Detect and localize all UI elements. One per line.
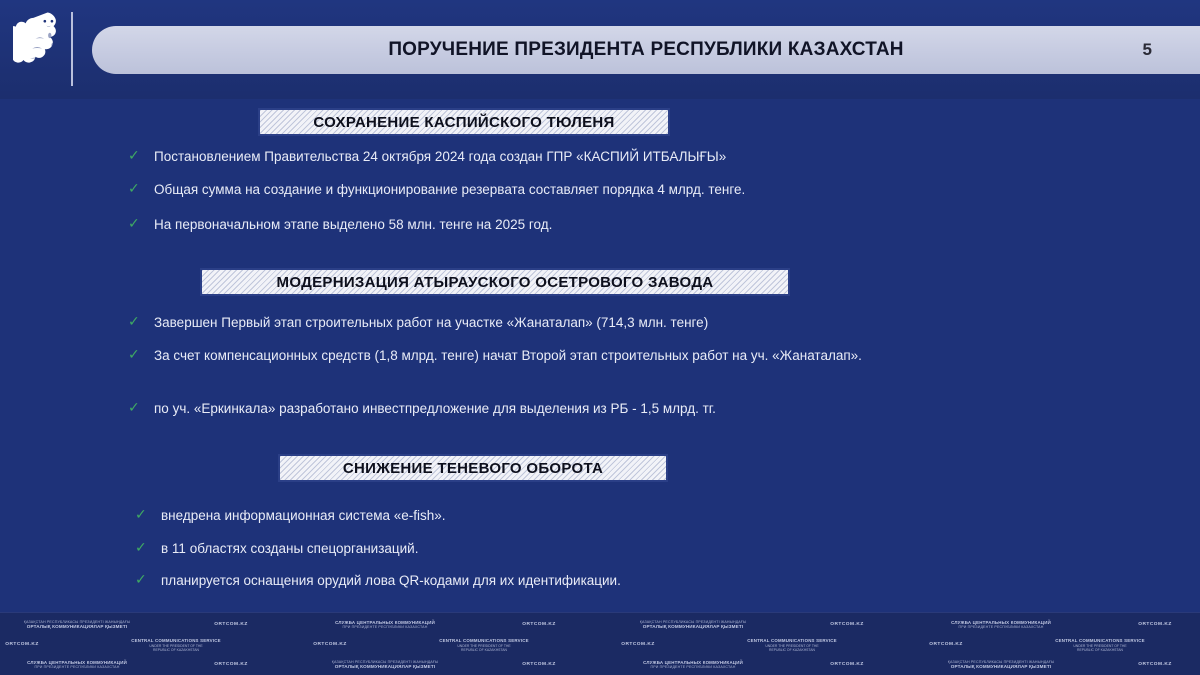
- list-item: ✓ Завершен Первый этап строительных рабо…: [128, 313, 918, 332]
- header-divider: [71, 12, 73, 86]
- title-bar: ПОРУЧЕНИЕ ПРЕЗИДЕНТА РЕСПУБЛИКИ КАЗАХСТА…: [92, 26, 1200, 74]
- list-item-text: планируется оснащения орудий лова QR-код…: [161, 571, 621, 590]
- snow-leopard-emblem: [12, 6, 70, 90]
- footer-cell: ORTCOM.KZ: [253, 642, 407, 648]
- footer-cell: СЛУЖБА ЦЕНТРАЛЬНЫХ КОММУНИКАЦИЙПРИ ПРЕЗИ…: [924, 620, 1078, 629]
- footer-cell: СЛУЖБА ЦЕНТРАЛЬНЫХ КОММУНИКАЦИЙПРИ ПРЕЗИ…: [616, 660, 770, 669]
- check-icon: ✓: [135, 571, 151, 589]
- list-item-text: Постановлением Правительства 24 октября …: [154, 147, 726, 166]
- section-heading-label: СОХРАНЕНИЕ КАСПИЙСКОГО ТЮЛЕНЯ: [313, 114, 614, 131]
- list-item: ✓ Общая сумма на создание и функциониров…: [128, 180, 888, 199]
- footer-cell: ORTCOM.KZ: [154, 622, 308, 628]
- list-item: ✓ в 11 областях созданы спецорганизаций.: [135, 539, 835, 558]
- check-icon: ✓: [135, 539, 151, 557]
- footer-cell: ҚАЗАҚСТАН РЕСПУБЛИКАСЫ ПРЕЗИДЕНТІ ЖАНЫНД…: [308, 660, 462, 670]
- footer-cell: CENTRAL COMMUNICATIONS SERVICEUNDER THE …: [715, 638, 869, 651]
- footer-cell: ORTCOM.KZ: [462, 662, 616, 668]
- list-item: ✓ Постановлением Правительства 24 октябр…: [128, 147, 888, 166]
- footer-cell: ORTCOM.KZ: [0, 642, 99, 648]
- footer-row: СЛУЖБА ЦЕНТРАЛЬНЫХ КОММУНИКАЦИЙПРИ ПРЕЗИ…: [0, 655, 1200, 675]
- footer-cell: ҚАЗАҚСТАН РЕСПУБЛИКАСЫ ПРЕЗИДЕНТІ ЖАНЫНД…: [616, 620, 770, 630]
- check-icon: ✓: [128, 346, 144, 364]
- footer-cell: ORTCOM.KZ: [770, 622, 924, 628]
- check-icon: ✓: [128, 313, 144, 331]
- footer-row: ORTCOM.KZCENTRAL COMMUNICATIONS SERVICEU…: [0, 635, 1200, 655]
- footer-cell: ORTCOM.KZ: [154, 662, 308, 668]
- section-heading-shadow-turnover: СНИЖЕНИЕ ТЕНЕВОГО ОБОРОТА: [278, 454, 668, 482]
- list-item: ✓ На первоначальном этапе выделено 58 мл…: [128, 215, 888, 234]
- list-item: ✓ За счет компенсационных средств (1,8 м…: [128, 346, 918, 365]
- footer-cell: CENTRAL COMMUNICATIONS SERVICEUNDER THE …: [99, 638, 253, 651]
- footer-cell: ORTCOM.KZ: [462, 622, 616, 628]
- list-item-text: За счет компенсационных средств (1,8 млр…: [154, 346, 862, 365]
- list-item: ✓ планируется оснащения орудий лова QR-к…: [135, 571, 835, 590]
- list-item-text: На первоначальном этапе выделено 58 млн.…: [154, 215, 552, 234]
- footer-cell: CENTRAL COMMUNICATIONS SERVICEUNDER THE …: [407, 638, 561, 651]
- footer-row: ҚАЗАҚСТАН РЕСПУБЛИКАСЫ ПРЕЗИДЕНТІ ЖАНЫНД…: [0, 615, 1200, 635]
- section-heading-label: СНИЖЕНИЕ ТЕНЕВОГО ОБОРОТА: [343, 460, 603, 477]
- check-icon: ✓: [135, 506, 151, 524]
- list-item: ✓ внедрена информационная система «e-fis…: [135, 506, 835, 525]
- footer-cell: ҚАЗАҚСТАН РЕСПУБЛИКАСЫ ПРЕЗИДЕНТІ ЖАНЫНД…: [0, 620, 154, 630]
- footer-cell: ORTCOM.KZ: [561, 642, 715, 648]
- check-icon: ✓: [128, 215, 144, 233]
- page-number: 5: [1143, 40, 1152, 60]
- footer-cell: CENTRAL COMMUNICATIONS SERVICEUNDER THE …: [1023, 638, 1177, 651]
- footer-watermark-band: ҚАЗАҚСТАН РЕСПУБЛИКАСЫ ПРЕЗИДЕНТІ ЖАНЫНД…: [0, 612, 1200, 675]
- list-item-text: по уч. «Еркинкала» разработано инвестпре…: [154, 399, 716, 418]
- footer-cell: ORTCOM.KZ: [1177, 642, 1200, 648]
- check-icon: ✓: [128, 180, 144, 198]
- check-icon: ✓: [128, 399, 144, 417]
- section-heading-label: МОДЕРНИЗАЦИЯ АТЫРАУСКОГО ОСЕТРОВОГО ЗАВО…: [277, 274, 714, 291]
- footer-cell: СЛУЖБА ЦЕНТРАЛЬНЫХ КОММУНИКАЦИЙПРИ ПРЕЗИ…: [0, 660, 154, 669]
- footer-cell: ORTCOM.KZ: [869, 642, 1023, 648]
- list-item-text: Завершен Первый этап строительных работ …: [154, 313, 708, 332]
- list-item-text: в 11 областях созданы спецорганизаций.: [161, 539, 418, 558]
- list-item-text: Общая сумма на создание и функционирован…: [154, 180, 745, 199]
- section-heading-caspian-seal: СОХРАНЕНИЕ КАСПИЙСКОГО ТЮЛЕНЯ: [258, 108, 670, 136]
- footer-cell: СЛУЖБА ЦЕНТРАЛЬНЫХ КОММУНИКАЦИЙПРИ ПРЕЗИ…: [308, 620, 462, 629]
- check-icon: ✓: [128, 147, 144, 165]
- footer-cell: ORTCOM.KZ: [1078, 622, 1200, 628]
- footer-cell: ҚАЗАҚСТАН РЕСПУБЛИКАСЫ ПРЕЗИДЕНТІ ЖАНЫНД…: [924, 660, 1078, 670]
- footer-cell: ORTCOM.KZ: [770, 662, 924, 668]
- slide-header: ПОРУЧЕНИЕ ПРЕЗИДЕНТА РЕСПУБЛИКИ КАЗАХСТА…: [0, 0, 1200, 99]
- list-item-text: внедрена информационная система «e-fish»…: [161, 506, 446, 525]
- footer-cell: ORTCOM.KZ: [1078, 662, 1200, 668]
- section-heading-sturgeon-plant: МОДЕРНИЗАЦИЯ АТЫРАУСКОГО ОСЕТРОВОГО ЗАВО…: [200, 268, 790, 296]
- list-item: ✓ по уч. «Еркинкала» разработано инвестп…: [128, 399, 918, 418]
- page-title: ПОРУЧЕНИЕ ПРЕЗИДЕНТА РЕСПУБЛИКИ КАЗАХСТА…: [92, 39, 1200, 61]
